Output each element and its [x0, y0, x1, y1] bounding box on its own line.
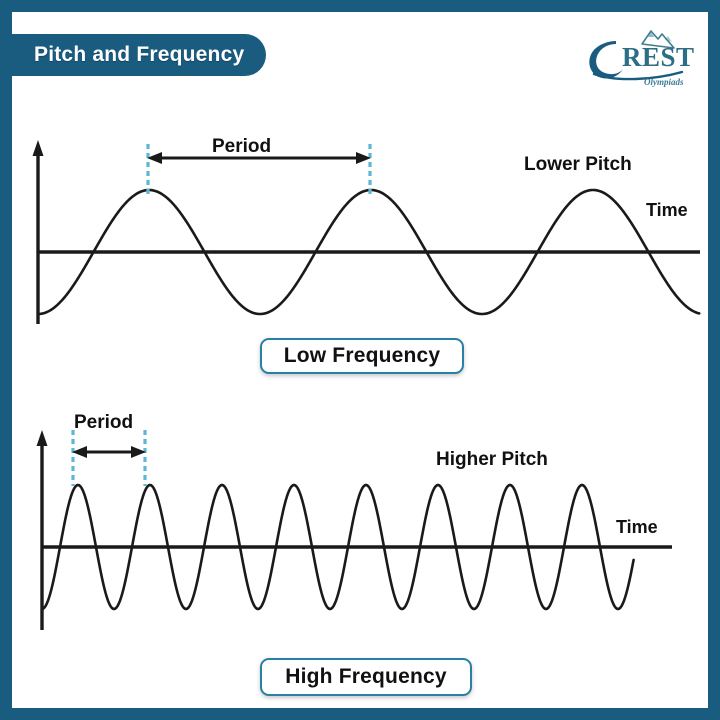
poster-canvas: Pitch and Frequency REST Olympiads	[12, 12, 708, 708]
lower-pitch-label: Lower Pitch	[524, 154, 632, 176]
logo-wordmark: REST	[622, 42, 694, 72]
high-frequency-caption-text: High Frequency	[285, 665, 447, 689]
page-title: Pitch and Frequency	[34, 43, 244, 67]
period-label-low: Period	[212, 136, 271, 158]
low-frequency-caption-text: Low Frequency	[284, 344, 441, 368]
time-axis-label-high: Time	[616, 517, 658, 538]
poster-root: Pitch and Frequency REST Olympiads	[0, 0, 720, 720]
low-frequency-panel	[12, 112, 708, 342]
logo-tagline: Olympiads	[644, 77, 684, 87]
high-frequency-panel	[12, 402, 708, 642]
high-frequency-caption-box: High Frequency	[260, 658, 472, 696]
higher-pitch-label: Higher Pitch	[436, 449, 548, 471]
y-axis-arrowhead	[33, 140, 44, 156]
period-arrow-high	[72, 446, 146, 458]
crest-logo: REST Olympiads	[582, 24, 694, 88]
title-banner: Pitch and Frequency	[12, 34, 266, 76]
y-axis-high	[37, 430, 48, 630]
low-frequency-chart	[12, 112, 708, 342]
low-frequency-caption-box: Low Frequency	[260, 338, 464, 374]
time-axis-label-low: Time	[646, 200, 688, 221]
y-axis-arrowhead	[37, 430, 48, 446]
period-label-high: Period	[74, 412, 133, 434]
logo-svg: REST Olympiads	[582, 24, 694, 88]
high-frequency-chart	[12, 402, 708, 642]
y-axis-low	[33, 140, 44, 324]
